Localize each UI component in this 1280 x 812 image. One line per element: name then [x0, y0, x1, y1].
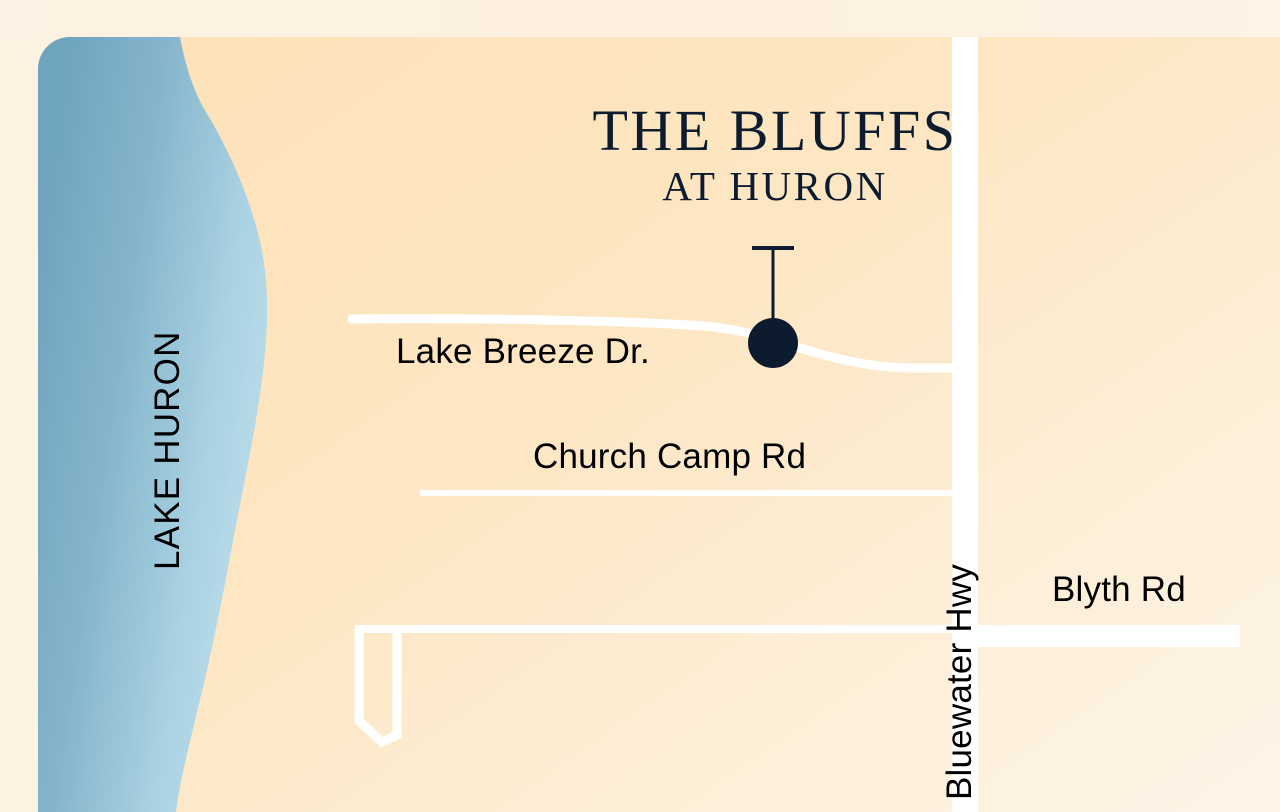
road-church-camp-rd: [420, 490, 952, 496]
road-label-bluewater-hwy: Bluewater Hwy: [940, 564, 980, 800]
road-blyth-rd: [952, 625, 1240, 647]
map-title-block: THE BLUFFS AT HURON: [540, 103, 1010, 214]
title-secondary: AT HURON: [540, 159, 1010, 214]
top-strip: [0, 0, 1280, 37]
location-map: THE BLUFFS AT HURON LAKE HURON Lake Bree…: [0, 0, 1280, 812]
road-label-blyth-rd: Blyth Rd: [1052, 570, 1186, 610]
road-label-church-camp-rd: Church Camp Rd: [533, 437, 806, 477]
road-label-lake-breeze-dr: Lake Breeze Dr.: [396, 332, 650, 372]
road-lower-collector: [355, 625, 952, 633]
title-primary: THE BLUFFS: [540, 103, 1010, 159]
water-label-lake-huron: LAKE HURON: [148, 330, 188, 570]
pin-dot: [748, 318, 798, 368]
